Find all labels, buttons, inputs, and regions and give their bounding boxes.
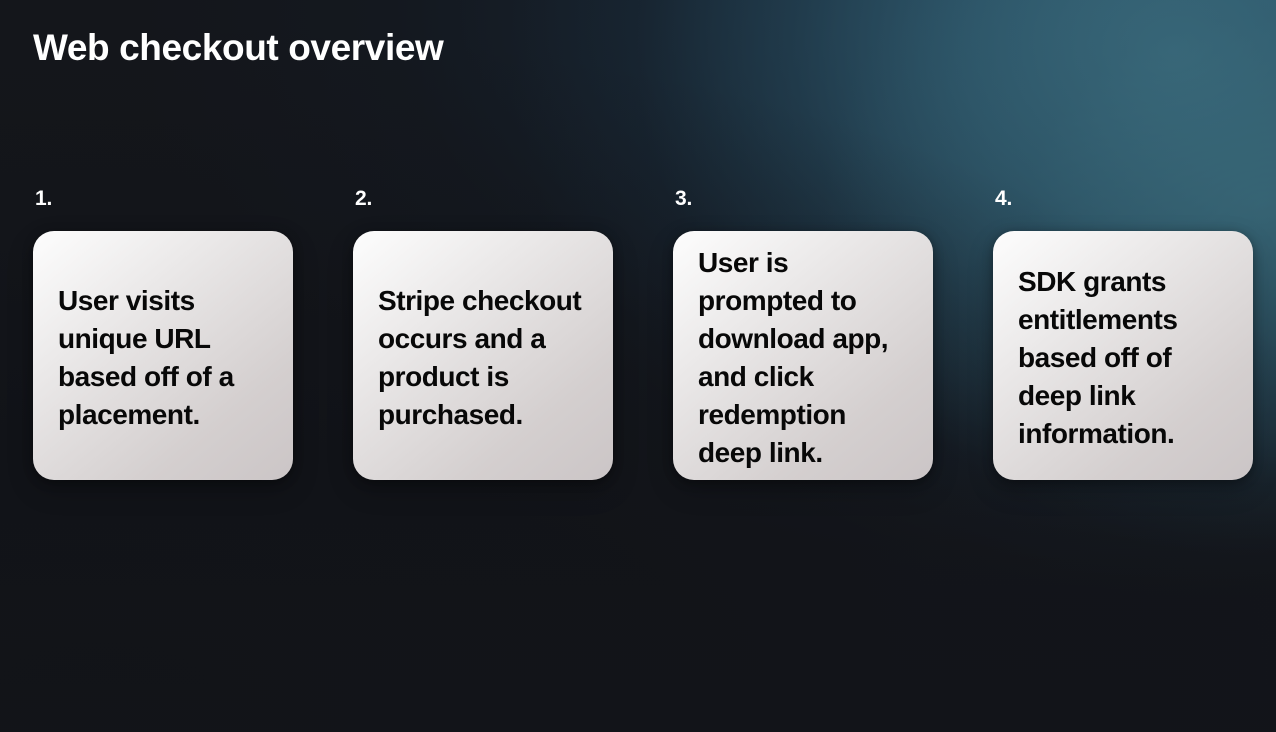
step-item-2: 2. Stripe checkout occurs and a product …	[353, 186, 613, 480]
step-card-1[interactable]: User visits unique URL based off of a pl…	[33, 231, 293, 480]
step-number-4: 4.	[995, 186, 1253, 212]
step-number-1: 1.	[35, 186, 293, 212]
step-card-text-4: SDK grants entitlements based off of dee…	[1018, 263, 1233, 453]
steps-row: 1. User visits unique URL based off of a…	[33, 186, 1243, 480]
step-item-3: 3. User is prompted to download app, and…	[673, 186, 933, 480]
step-item-1: 1. User visits unique URL based off of a…	[33, 186, 293, 480]
step-card-3[interactable]: User is prompted to download app, and cl…	[673, 231, 933, 480]
step-card-2[interactable]: Stripe checkout occurs and a product is …	[353, 231, 613, 480]
step-card-text-1: User visits unique URL based off of a pl…	[58, 282, 273, 434]
step-card-text-3: User is prompted to download app, and cl…	[698, 244, 913, 472]
page-title: Web checkout overview	[33, 25, 443, 71]
step-card-text-2: Stripe checkout occurs and a product is …	[378, 282, 593, 434]
step-card-4[interactable]: SDK grants entitlements based off of dee…	[993, 231, 1253, 480]
step-number-3: 3.	[675, 186, 933, 212]
step-item-4: 4. SDK grants entitlements based off of …	[993, 186, 1253, 480]
step-number-2: 2.	[355, 186, 613, 212]
slide-canvas: Web checkout overview 1. User visits uni…	[0, 0, 1276, 732]
